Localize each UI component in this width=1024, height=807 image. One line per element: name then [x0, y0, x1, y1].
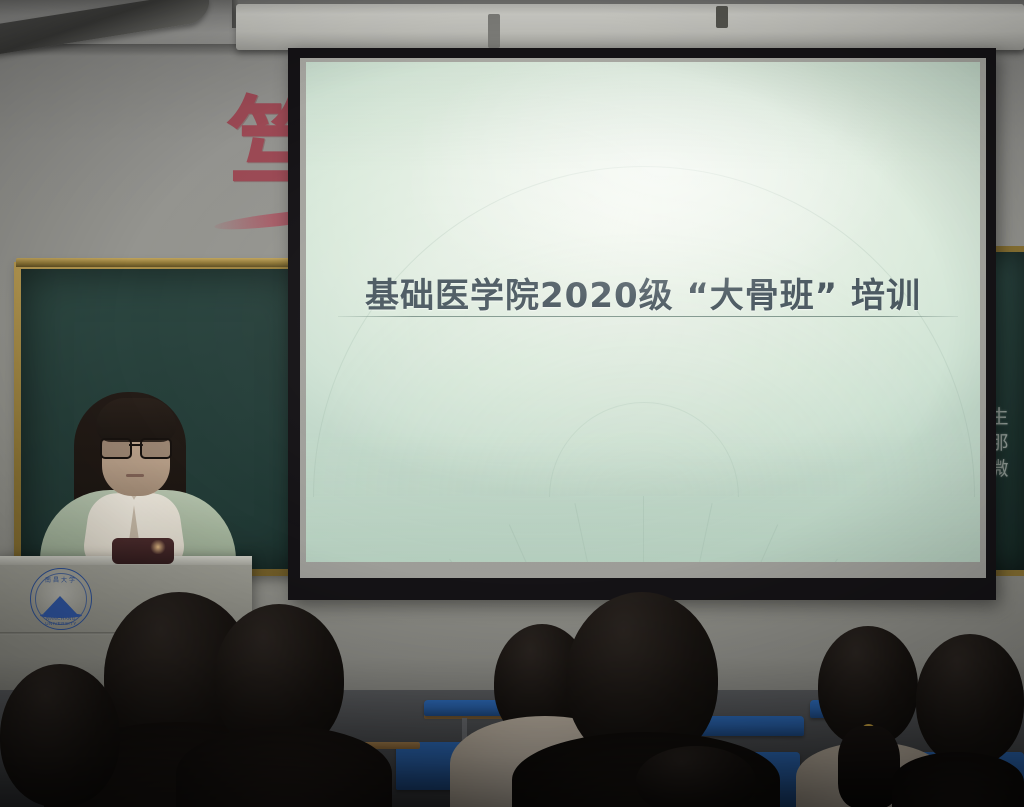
blackboard-left-chalk-tray: [16, 258, 300, 267]
screen-roller-housing: THREELEAVES: [236, 4, 1024, 50]
crest-top-text: 南昌大学: [31, 575, 91, 584]
projection-screen: 基础医学院2020级 “大骨班” 培训: [288, 48, 996, 600]
audience-head: [916, 634, 1024, 766]
audience-head: [636, 746, 756, 807]
slide-title-underline: [338, 316, 958, 317]
university-crest-icon: 南昌大学 NANCHANG UNIVERSITY: [30, 568, 92, 630]
eyeglasses-icon: [100, 438, 172, 456]
lecture-hall-photo: THREELEAVES 笃 生 那 微: [0, 0, 1024, 807]
presenter-mouth: [126, 474, 144, 477]
podium-device-light: [150, 540, 166, 554]
crest-bottom-text: NANCHANG UNIVERSITY: [31, 616, 91, 626]
fan-outer-arc: [313, 166, 975, 562]
fan-inner-arc: [549, 402, 739, 562]
roller-bracket: [716, 6, 728, 28]
slide-title: 基础医学院2020级 “大骨班” 培训: [365, 268, 921, 317]
roller-end-cap: [488, 14, 500, 48]
presenter-hair-front: [96, 398, 176, 442]
seat: [700, 716, 804, 736]
projected-slide: 基础医学院2020级 “大骨班” 培训: [306, 62, 980, 562]
fan-wash: [313, 166, 973, 496]
audience-shoulders: [892, 752, 1024, 807]
audience-ponytail: [838, 726, 900, 807]
slide-title-area: 基础医学院2020级 “大骨班” 培训: [306, 268, 980, 317]
audience-head: [0, 664, 120, 807]
